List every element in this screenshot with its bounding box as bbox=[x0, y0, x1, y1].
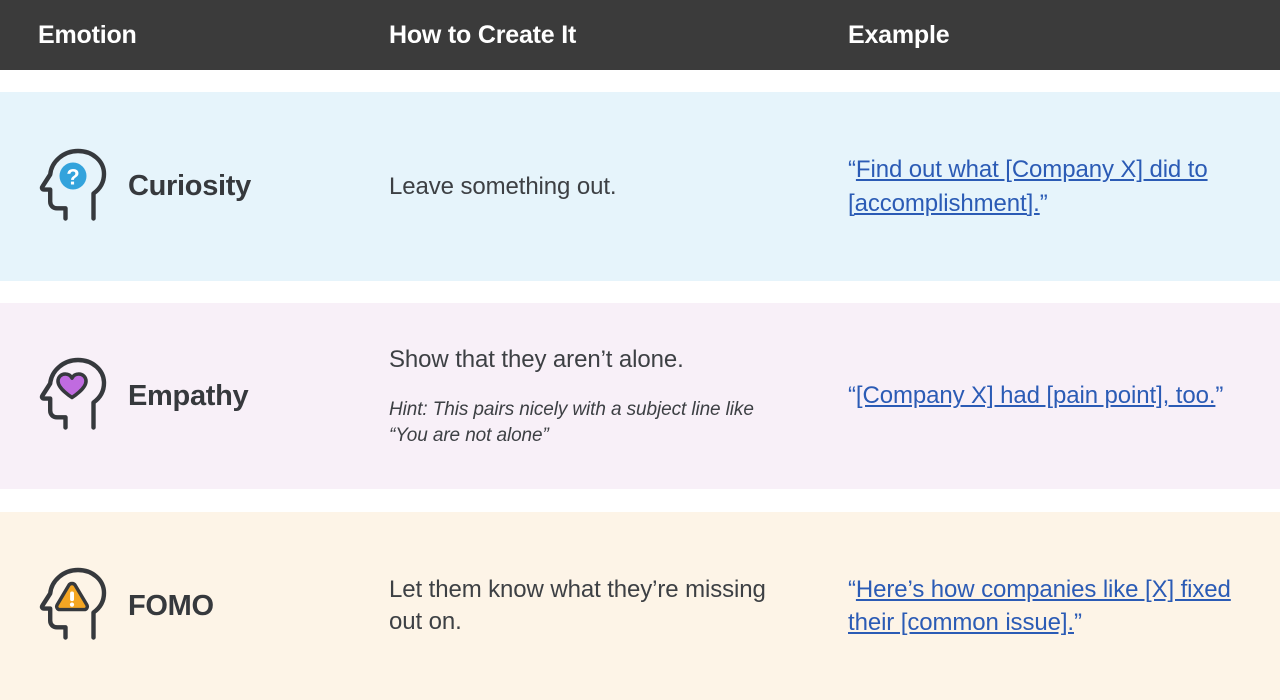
open-quote: “ bbox=[848, 382, 856, 409]
column-header-emotion-label: Emotion bbox=[38, 21, 137, 50]
cell-how-to-create-fomo: Let them know what they’re missing out o… bbox=[389, 512, 789, 700]
cell-emotion-curiosity: ? Curiosity bbox=[38, 92, 368, 281]
open-quote: “ bbox=[848, 156, 856, 183]
example-quote: “[Company X] had [pain point], too.” bbox=[848, 379, 1248, 412]
how-to-create-text: Show that they aren’t alone. bbox=[389, 344, 789, 376]
cell-example-empathy: “[Company X] had [pain point], too.” bbox=[848, 303, 1248, 489]
column-header-how-to-create-it-label: How to Create It bbox=[389, 21, 576, 50]
table-row: ? Curiosity Leave something out. “Find o… bbox=[0, 92, 1280, 281]
head-question-icon: ? bbox=[38, 148, 110, 226]
emotion-label: FOMO bbox=[128, 590, 214, 623]
table-row: FOMO Let them know what they’re missing … bbox=[0, 512, 1280, 700]
cell-emotion-empathy: Empathy bbox=[38, 303, 368, 489]
close-quote: ” bbox=[1040, 190, 1048, 217]
head-warning-icon bbox=[38, 567, 110, 645]
example-quote: “Find out what [Company X] did to [accom… bbox=[848, 153, 1248, 219]
cell-emotion-fomo: FOMO bbox=[38, 512, 368, 700]
table-row: Empathy Show that they aren’t alone. Hin… bbox=[0, 303, 1280, 489]
cell-example-fomo: “Here’s how companies like [X] fixed the… bbox=[848, 512, 1248, 700]
emotion-label: Empathy bbox=[128, 380, 248, 413]
column-header-emotion: Emotion bbox=[38, 0, 137, 70]
open-quote: “ bbox=[848, 576, 856, 603]
how-to-create-hint: Hint: This pairs nicely with a subject l… bbox=[389, 397, 789, 448]
cell-how-to-create-empathy: Show that they aren’t alone. Hint: This … bbox=[389, 303, 789, 489]
table-header-row: Emotion How to Create It Example bbox=[0, 0, 1280, 70]
example-link[interactable]: Here’s how companies like [X] fixed thei… bbox=[848, 576, 1231, 636]
example-link[interactable]: Find out what [Company X] did to [accomp… bbox=[848, 156, 1208, 216]
column-header-example-label: Example bbox=[848, 21, 949, 50]
column-header-example: Example bbox=[848, 0, 949, 70]
close-quote: ” bbox=[1215, 382, 1223, 409]
emotion-label: Curiosity bbox=[128, 170, 251, 203]
cell-how-to-create-curiosity: Leave something out. bbox=[389, 92, 789, 281]
head-heart-icon bbox=[38, 357, 110, 435]
how-to-create-text: Let them know what they’re missing out o… bbox=[389, 574, 789, 637]
column-header-how-to-create-it: How to Create It bbox=[389, 0, 576, 70]
cell-example-curiosity: “Find out what [Company X] did to [accom… bbox=[848, 92, 1248, 281]
how-to-create-text: Leave something out. bbox=[389, 171, 789, 203]
example-quote: “Here’s how companies like [X] fixed the… bbox=[848, 573, 1248, 639]
close-quote: ” bbox=[1074, 609, 1082, 636]
heart-glyph bbox=[58, 374, 86, 398]
question-mark-glyph: ? bbox=[66, 164, 79, 189]
emotion-table: Emotion How to Create It Example ? Curio… bbox=[0, 0, 1280, 700]
example-link[interactable]: [Company X] had [pain point], too. bbox=[856, 382, 1216, 409]
